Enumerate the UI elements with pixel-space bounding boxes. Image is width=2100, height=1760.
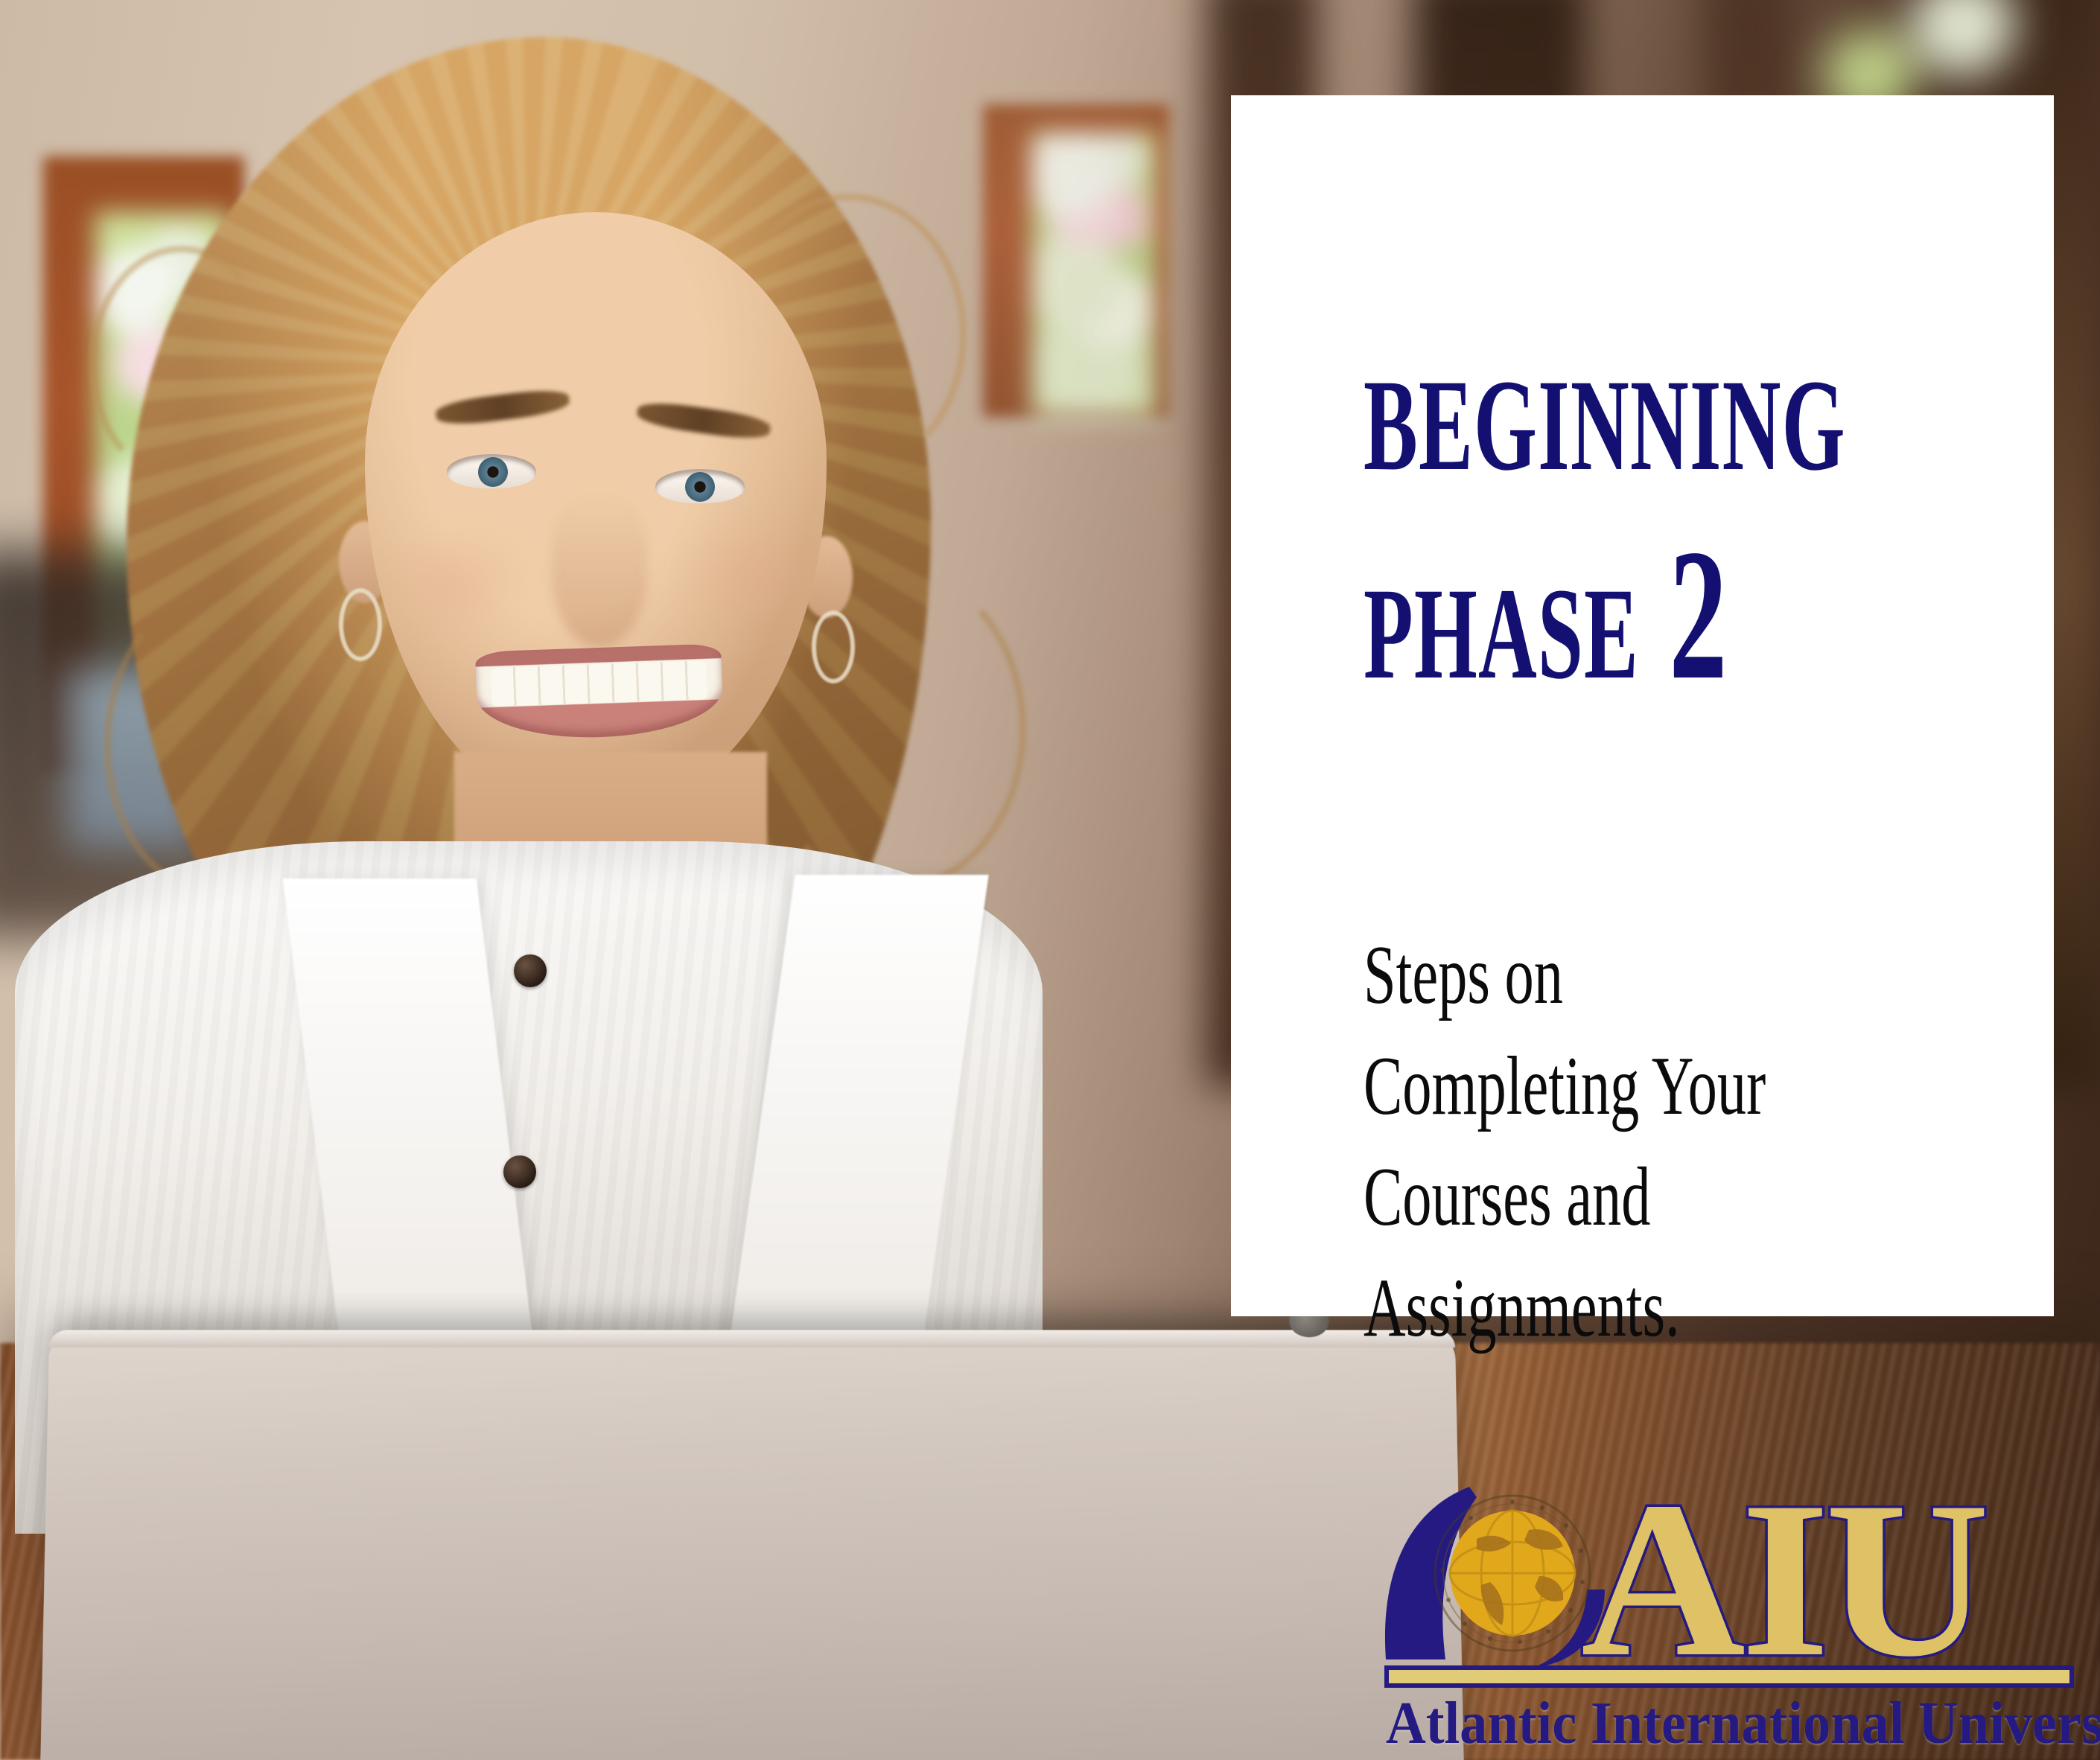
hoop-earring (812, 610, 855, 683)
laptop (40, 1330, 1465, 1760)
logo-university-name: Atlantic International University (1386, 1694, 2030, 1753)
laptop-hinge (49, 1330, 1455, 1348)
poster-canvas: Beginning Phase 2 Steps on Completing Yo… (0, 0, 2100, 1760)
text-card-inner: Beginning Phase 2 Steps on Completing Yo… (1298, 95, 2009, 1316)
person-portrait (0, 0, 1266, 1534)
hair-curl (89, 246, 274, 482)
iris (478, 457, 508, 487)
nose (551, 491, 648, 648)
title-line-2: Phase 2 (1364, 527, 1802, 701)
cheek (387, 529, 529, 633)
page-title: Beginning Phase 2 (1364, 319, 1802, 702)
shirt-button (503, 1155, 536, 1188)
eye (655, 469, 745, 503)
shirt-button (514, 954, 547, 987)
aiu-logo: AIU Atlantic International University (1381, 1478, 2074, 1735)
title-line-1: Beginning (1364, 319, 1802, 493)
hoop-earring (339, 588, 382, 661)
teeth (491, 660, 708, 707)
logo-monogram: AIU (1581, 1467, 1985, 1691)
page-subtitle: Steps on Completing Your Courses and Ass… (1364, 920, 1833, 1364)
text-card: Beginning Phase 2 Steps on Completing Yo… (1231, 95, 2054, 1316)
cheek (678, 521, 819, 625)
iris (685, 472, 715, 502)
eye (447, 454, 536, 488)
logo-divider-bar (1384, 1665, 2074, 1688)
